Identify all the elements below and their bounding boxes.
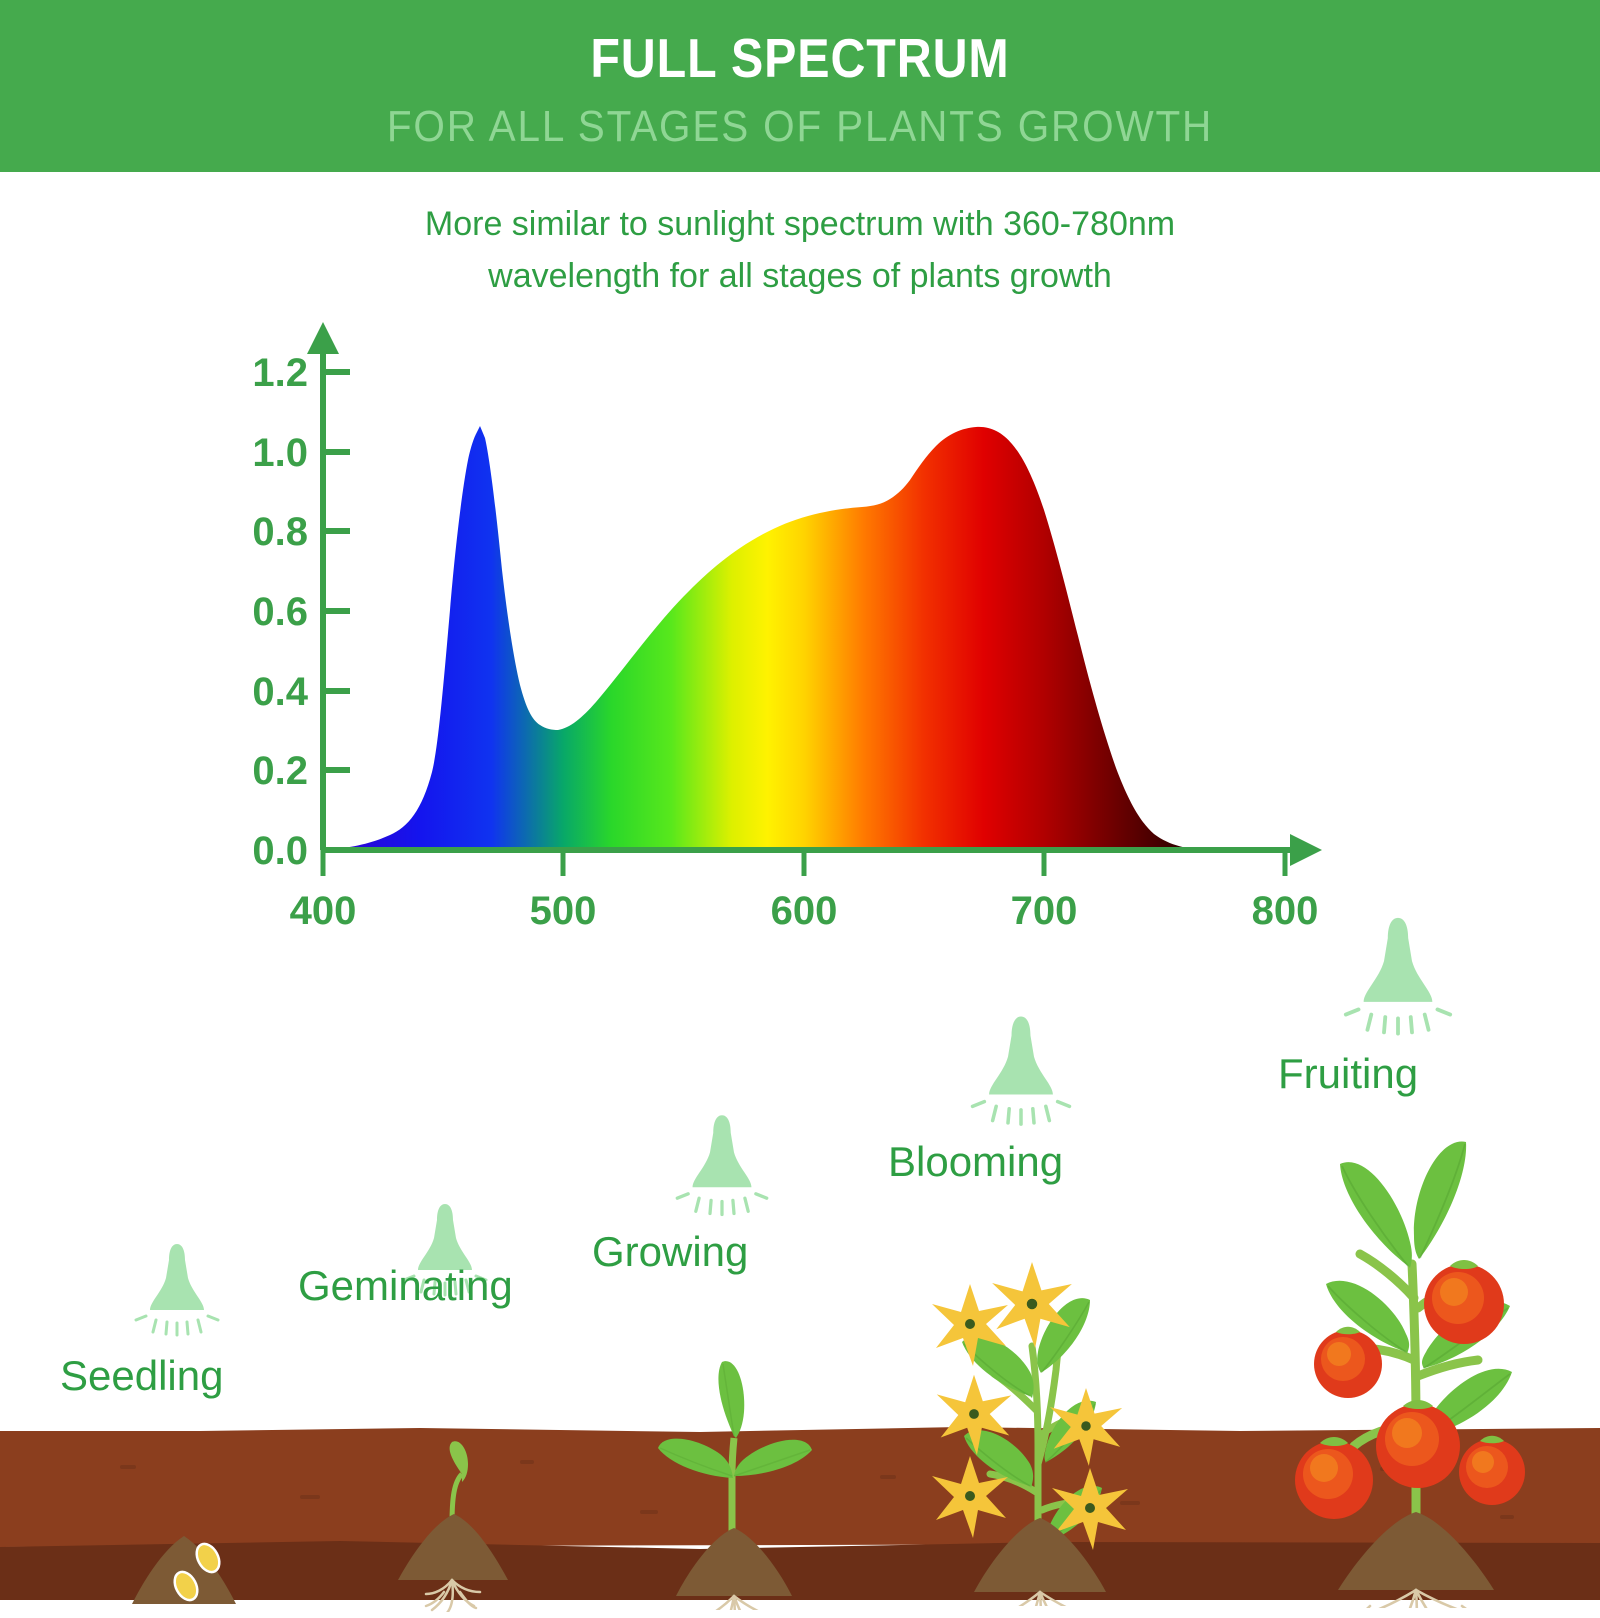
intro-line-2: wavelength for all stages of plants grow… <box>300 250 1300 302</box>
leaf <box>718 1361 744 1438</box>
grow-light-bulb-icon <box>662 1100 782 1220</box>
intro-line-1: More similar to sunlight spectrum with 3… <box>300 198 1300 250</box>
x-tick-600: 600 <box>771 889 838 930</box>
x-tick-500: 500 <box>530 889 597 930</box>
y-tick-1.2: 1.2 <box>252 351 308 395</box>
stage-fruiting: Fruiting <box>1230 900 1600 1600</box>
chart-svg: 1.2 1.0 0.8 0.6 0.4 0.2 0.0 400 500 600 … <box>240 310 1360 930</box>
roots <box>686 1596 786 1610</box>
y-tick-1.0: 1.0 <box>252 431 308 475</box>
x-axis-ticks <box>323 850 1285 876</box>
y-tick-0.8: 0.8 <box>252 510 308 554</box>
header-banner: FULL SPECTRUM FOR ALL STAGES OF PLANTS G… <box>0 0 1600 172</box>
y-axis-arrow <box>307 322 339 354</box>
stage-label-growing: Growing <box>592 1228 748 1276</box>
x-axis-arrow <box>1290 834 1322 866</box>
page-subtitle: FOR ALL STAGES OF PLANTS GROWTH <box>64 102 1536 152</box>
roots <box>426 1580 480 1612</box>
grow-light-bulb-icon <box>956 1000 1086 1130</box>
blooming-illustration <box>870 1196 1210 1606</box>
x-tick-700: 700 <box>1011 889 1078 930</box>
x-tick-400: 400 <box>290 889 357 930</box>
leaf <box>734 1440 812 1476</box>
roots <box>974 1592 1108 1606</box>
stage-label-seedling: Seedling <box>60 1352 223 1400</box>
stage-growing: Growing <box>570 1100 900 1600</box>
y-axis-ticks <box>323 372 350 850</box>
growing-illustration <box>590 1300 880 1610</box>
y-tick-0.2: 0.2 <box>252 749 308 793</box>
fruiting-illustration <box>1230 1108 1600 1608</box>
roots <box>1326 1590 1510 1608</box>
grow-light-bulb-icon <box>1328 900 1468 1040</box>
y-tick-0.4: 0.4 <box>252 670 308 714</box>
spectrum-area <box>323 426 1285 850</box>
page-title: FULL SPECTRUM <box>96 26 1504 90</box>
stage-label-geminating: Geminating <box>298 1262 513 1310</box>
soil-mound <box>1338 1512 1494 1590</box>
geminating-illustration <box>340 1342 600 1612</box>
spectrum-chart: 1.2 1.0 0.8 0.6 0.4 0.2 0.0 400 500 600 … <box>240 310 1360 930</box>
y-tick-0.0: 0.0 <box>252 829 308 873</box>
stage-label-blooming: Blooming <box>888 1138 1063 1186</box>
y-axis-labels: 1.2 1.0 0.8 0.6 0.4 0.2 0.0 <box>252 351 308 873</box>
y-tick-0.6: 0.6 <box>252 590 308 634</box>
stage-blooming: Blooming <box>860 1000 1220 1600</box>
stage-label-fruiting: Fruiting <box>1278 1050 1418 1098</box>
grow-light-bulb-icon <box>122 1230 232 1340</box>
intro-text: More similar to sunlight spectrum with 3… <box>300 198 1300 302</box>
soil-mound <box>398 1514 508 1580</box>
x-axis-labels: 400 500 600 700 800 <box>290 889 1319 930</box>
soil-mound <box>676 1528 792 1596</box>
